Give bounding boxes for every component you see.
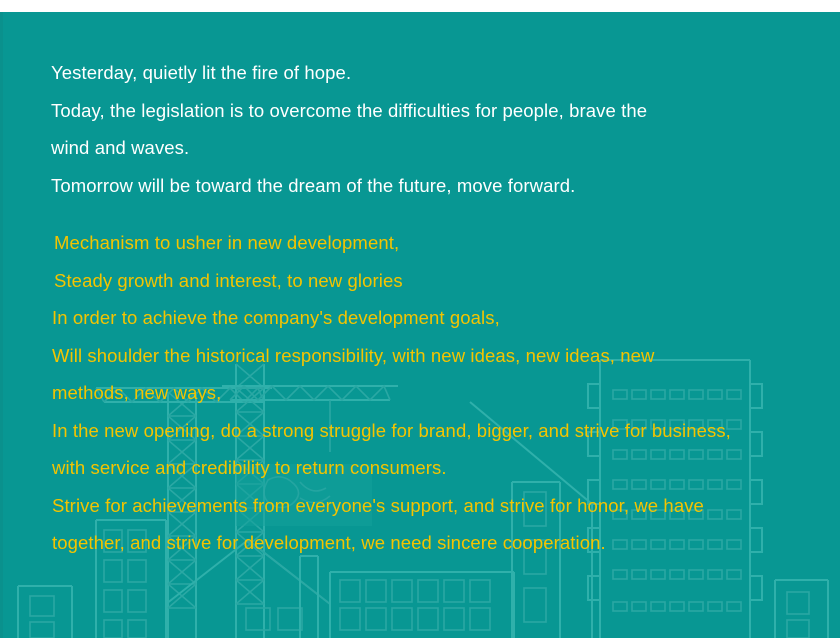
mission-statement-paragraph: Mechanism to usher in new development, S… <box>52 224 840 562</box>
opening-statement-paragraph: Yesterday, quietly lit the fire of hope.… <box>51 54 741 204</box>
mission-statement-line-9: together, and strive for development, we… <box>52 524 840 562</box>
slide-root: Yesterday, quietly lit the fire of hope.… <box>0 0 840 638</box>
slide-text-layer: Yesterday, quietly lit the fire of hope.… <box>0 12 840 638</box>
mission-statement-line-7: with service and credibility to return c… <box>52 449 840 487</box>
mission-statement-line-8: Strive for achievements from everyone's … <box>52 487 840 525</box>
mission-statement-line-4: Will shoulder the historical responsibil… <box>52 337 840 375</box>
opening-statement-line-3: wind and waves. <box>51 129 741 167</box>
opening-statement-line-2: Today, the legislation is to overcome th… <box>51 92 741 130</box>
mission-statement-line-5: methods, new ways, <box>52 374 840 412</box>
mission-statement-line-6: In the new opening, do a strong struggle… <box>52 412 840 450</box>
opening-statement-line-4: Tomorrow will be toward the dream of the… <box>51 167 741 205</box>
opening-statement-line-1: Yesterday, quietly lit the fire of hope. <box>51 54 741 92</box>
mission-statement-line-1: Mechanism to usher in new development, <box>52 224 840 262</box>
mission-statement-line-3: In order to achieve the company's develo… <box>52 299 840 337</box>
slide-background-panel: Yesterday, quietly lit the fire of hope.… <box>0 12 840 638</box>
mission-statement-line-2: Steady growth and interest, to new glori… <box>52 262 840 300</box>
